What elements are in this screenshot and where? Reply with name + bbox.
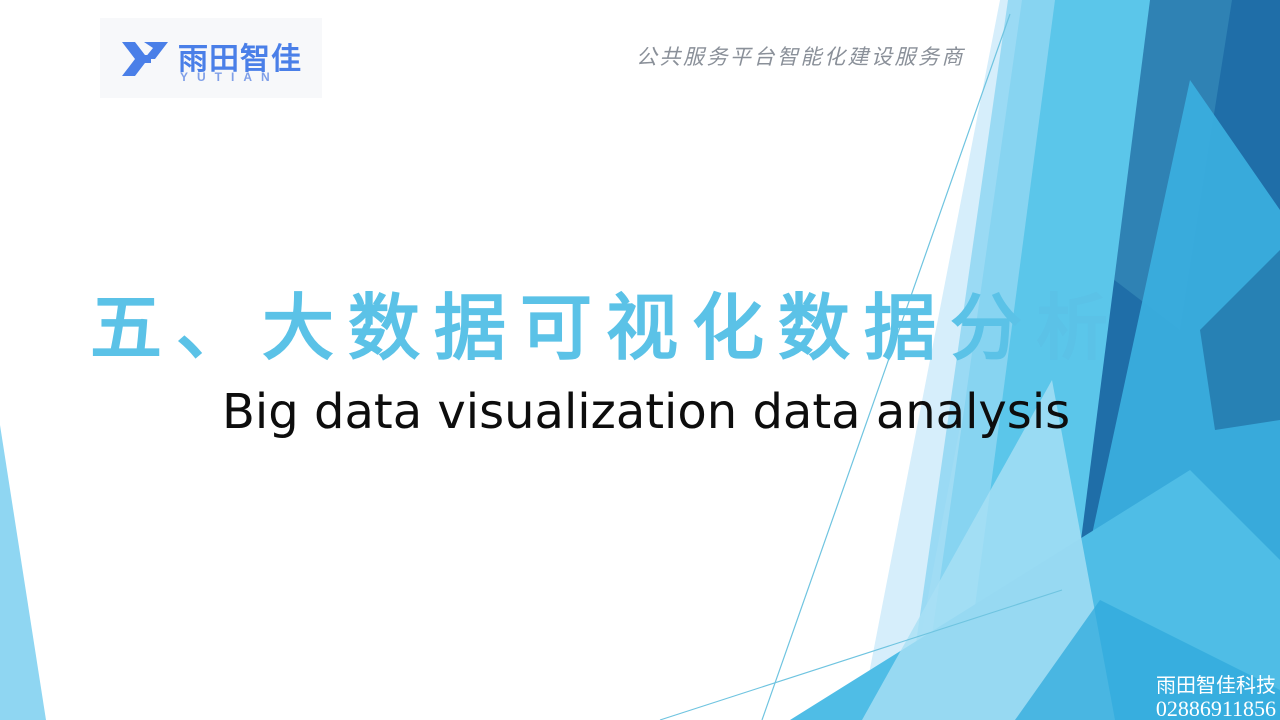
logo-block: 雨田智佳 YUTIAN [100,18,322,98]
presentation-slide: 雨田智佳 YUTIAN 公共服务平台智能化建设服务商 五、大数据可视化数据分析 … [0,0,1280,720]
footer-phone-number: 02886911856 [1156,697,1276,720]
header-tagline: 公共服务平台智能化建设服务商 [636,41,965,71]
footer-company-name: 雨田智佳科技 [1156,674,1276,697]
slide-subtitle-english: Big data visualization data analysis [222,381,1222,443]
footer-contact: 雨田智佳科技 02886911856 [1156,674,1276,720]
yutian-y-mark-icon [122,40,168,78]
shape-left-triangle [0,425,46,720]
logo-company-name-en: YUTIAN [180,70,279,84]
slide-title-chinese: 五、大数据可视化数据分析 [90,288,1090,370]
